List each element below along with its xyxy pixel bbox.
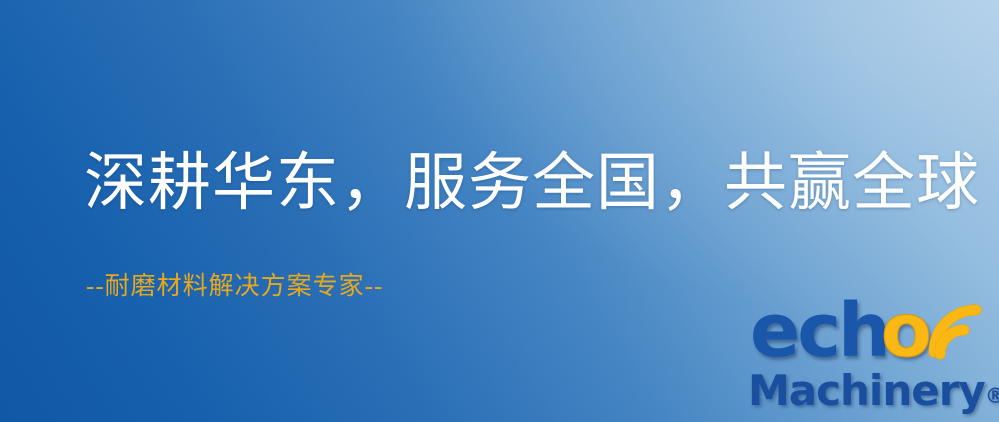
banner-subtitle: --耐磨材料解决方案专家-- [86,266,383,302]
banner-headline: 深耕华东，服务全国，共赢全球 [84,150,980,216]
logo-text-ech: ech [750,292,888,370]
registered-trademark-icon: ® [985,384,999,408]
signal-waves-icon [920,292,996,364]
echo-machinery-logo: ech o Machinery® [748,296,993,422]
logo-tagline-text: Machinery [748,366,985,415]
logo-wordmark: ech o [748,296,993,372]
logo-tagline: Machinery® [748,366,999,415]
promo-banner: 深耕华东，服务全国，共赢全球 --耐磨材料解决方案专家-- ech o Mach… [0,0,999,422]
